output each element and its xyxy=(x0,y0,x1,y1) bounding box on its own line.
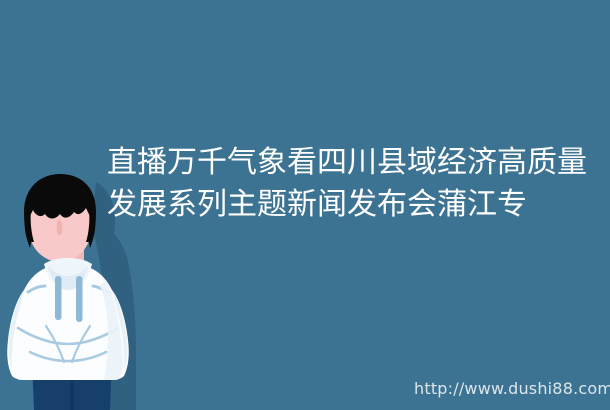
watermark-url: http://www.dushi88.com.cn xyxy=(414,379,610,399)
news-thumbnail-image: 直播万千气象看四川县域经济高质量发展系列主题新闻发布会蒲江专 http://ww… xyxy=(0,0,610,410)
page-title: 直播万千气象看四川县域经济高质量发展系列主题新闻发布会蒲江专 xyxy=(107,142,593,226)
